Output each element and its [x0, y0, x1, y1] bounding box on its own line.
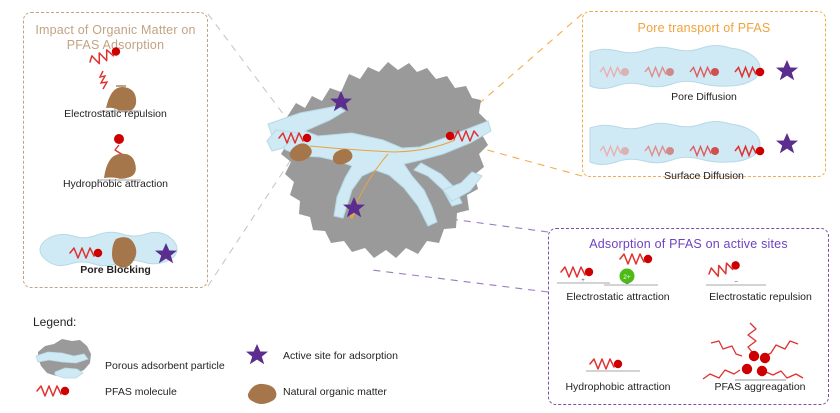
legend-icons	[0, 0, 840, 413]
legend-label-porous-particle: Porous adsorbent particle	[105, 360, 225, 372]
porous-particle-icon	[36, 339, 91, 378]
legend-label-natural-organic-matter: Natural organic matter	[283, 386, 387, 398]
diagram-canvas: Impact of Organic Matter on PFAS Adsorpt…	[0, 0, 840, 413]
legend-label-pfas-molecule: PFAS molecule	[105, 386, 177, 398]
legend-label-active-site: Active site for adsorption	[283, 350, 398, 362]
brown-blob-icon	[248, 384, 277, 404]
pfas-molecule-icon	[37, 386, 69, 396]
purple-star-icon	[246, 344, 268, 364]
